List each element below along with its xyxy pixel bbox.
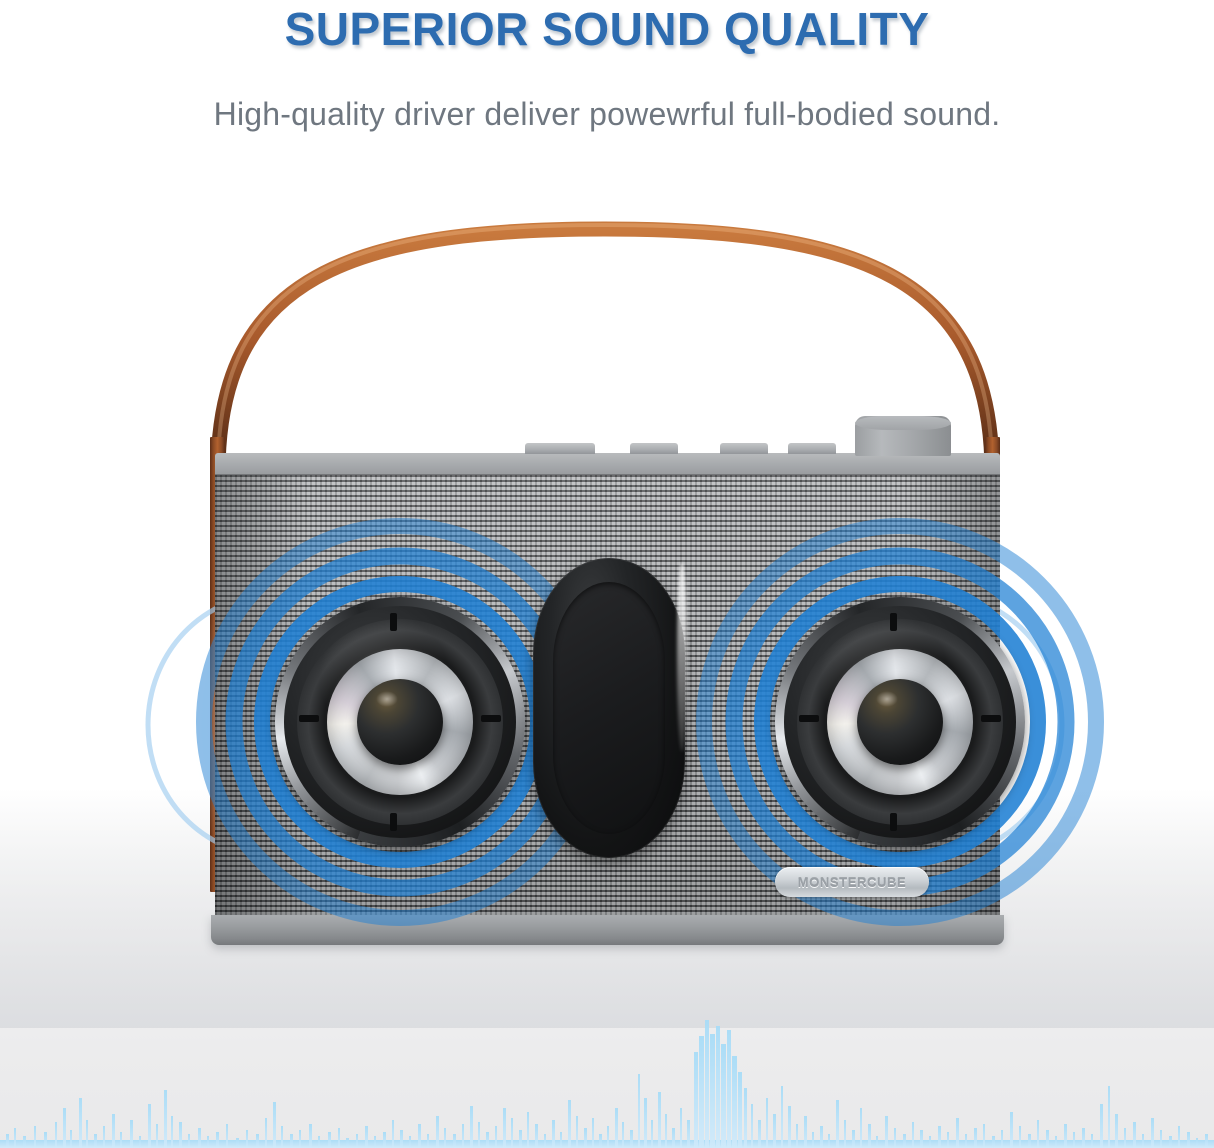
left-driver-dome [357, 679, 443, 765]
top-control-plate [215, 453, 1000, 477]
brand-badge-label: MONSTERCUBE [798, 875, 906, 890]
page-subtitle: High-quality driver deliver powewrful fu… [0, 96, 1214, 133]
volume-knob[interactable] [855, 416, 951, 456]
product-feature-banner: SUPERIOR SOUND QUALITY High-quality driv… [0, 0, 1214, 1148]
left-driver [275, 597, 525, 847]
brand-badge: MONSTERCUBE [775, 867, 929, 897]
bluetooth-speaker-product: MONSTERCUBE [200, 215, 1010, 960]
right-driver-dome [857, 679, 943, 765]
top-button-2[interactable] [630, 443, 678, 454]
passive-radiator [533, 558, 685, 858]
right-driver [775, 597, 1025, 847]
audio-waveform-graphic [0, 948, 1214, 1148]
top-button-1[interactable] [525, 443, 595, 454]
speaker-base [211, 915, 1004, 945]
top-button-4[interactable] [788, 443, 836, 454]
top-button-3[interactable] [720, 443, 768, 454]
page-title: SUPERIOR SOUND QUALITY [0, 2, 1214, 56]
